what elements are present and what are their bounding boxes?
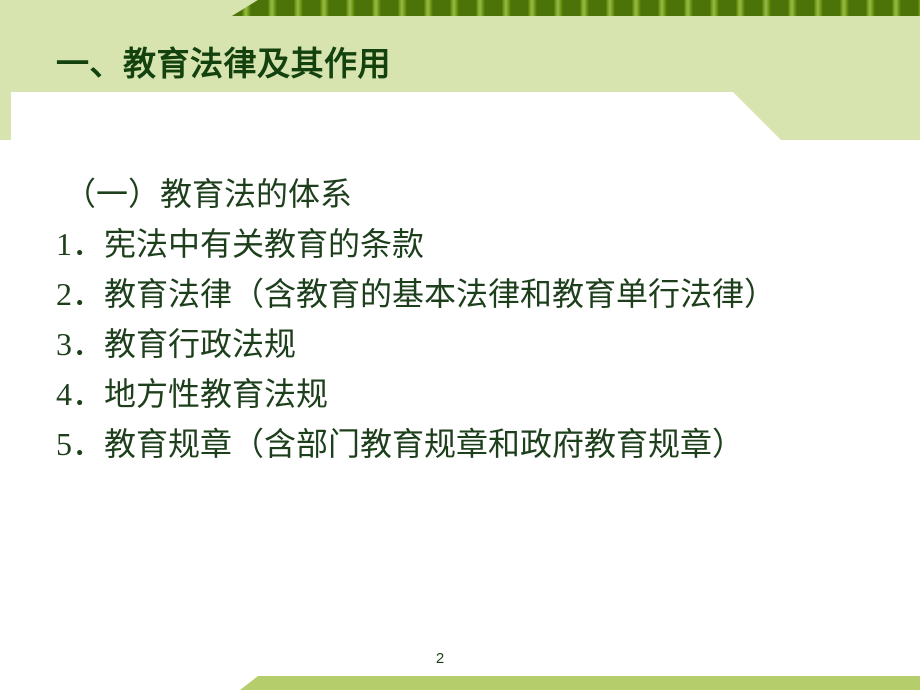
body-line-1: （一）教育法的体系 bbox=[64, 172, 352, 216]
stripe-ribs bbox=[232, 0, 920, 16]
top-ribbed-stripe bbox=[232, 0, 920, 16]
page-title: 一、教育法律及其作用 bbox=[56, 40, 756, 88]
body-line-5: 4．地方性教育法规 bbox=[56, 372, 328, 416]
body-line-2: 1．宪法中有关教育的条款 bbox=[56, 222, 424, 266]
body-line-3: 2．教育法律（含教育的基本法律和教育单行法律） bbox=[56, 272, 776, 316]
body-line-6: 5．教育规章（含部门教育规章和政府教育规章） bbox=[56, 422, 744, 466]
body-content: （一）教育法的体系 1．宪法中有关教育的条款 2．教育法律（含教育的基本法律和教… bbox=[0, 160, 920, 560]
header-right-wedge bbox=[722, 92, 920, 140]
body-line-4: 3．教育行政法规 bbox=[56, 322, 296, 366]
header-left-strip bbox=[0, 92, 11, 140]
slide-canvas: 一、教育法律及其作用 （一）教育法的体系 1．宪法中有关教育的条款 2．教育法律… bbox=[0, 0, 920, 690]
page-number: 2 bbox=[420, 650, 460, 667]
footer-bar bbox=[240, 676, 920, 690]
